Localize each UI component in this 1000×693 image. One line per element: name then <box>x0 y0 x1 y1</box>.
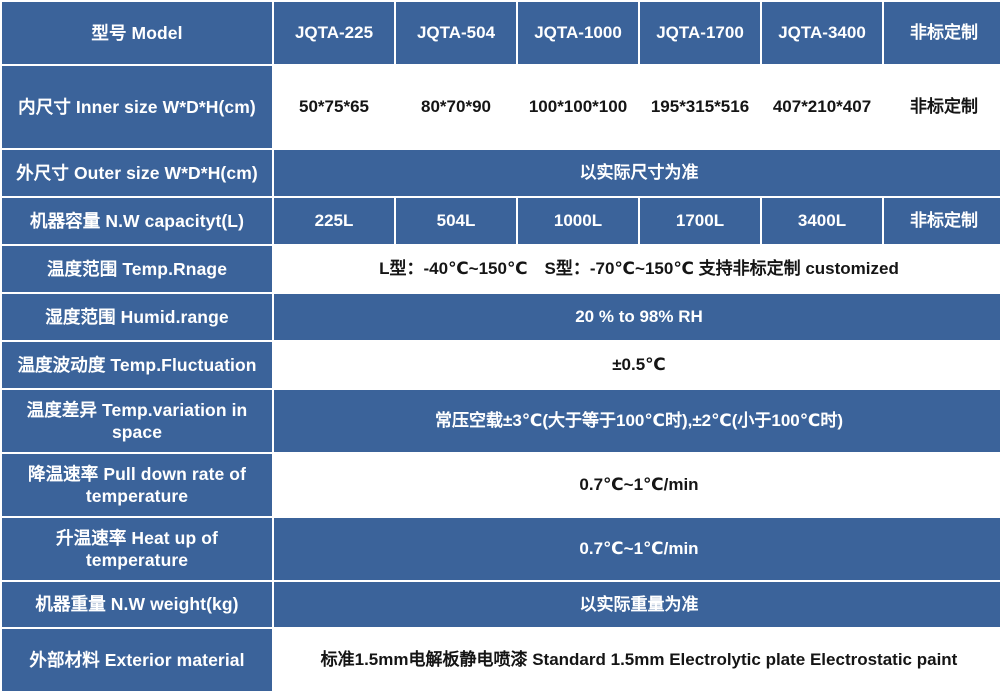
cell-temp-fluctuation-value: ±0.5℃ <box>274 342 1000 388</box>
row-label-heat-up-rate: 升温速率 Heat up of temperature <box>2 518 272 580</box>
row-label-outer-size: 外尺寸 Outer size W*D*H(cm) <box>2 150 272 196</box>
cell-inner-size-5: 非标定制 <box>884 66 1000 148</box>
cell-humidity-value: 20 % to 98% RH <box>274 294 1000 340</box>
header-model-5: 非标定制 <box>884 2 1000 64</box>
row-label-humidity: 湿度范围 Humid.range <box>2 294 272 340</box>
row-label-temp-fluctuation: 温度波动度 Temp.Fluctuation <box>2 342 272 388</box>
table-row-capacity: 机器容量 N.W capacityt(L) 225L 504L 1000L 17… <box>2 198 1000 244</box>
table-row-exterior-material: 外部材料 Exterior material 标准1.5mm电解板静电喷漆 St… <box>2 629 1000 691</box>
cell-exterior-material-value: 标准1.5mm电解板静电喷漆 Standard 1.5mm Electrolyt… <box>274 629 1000 691</box>
cell-capacity-5: 非标定制 <box>884 198 1000 244</box>
cell-capacity-4: 3400L <box>762 198 882 244</box>
table-row-temp-range: 温度范围 Temp.Rnage L型：-40℃~150℃ S型：-70℃~150… <box>2 246 1000 292</box>
row-label-inner-size: 内尺寸 Inner size W*D*H(cm) <box>2 66 272 148</box>
header-model-3: JQTA-1700 <box>640 2 760 64</box>
table-row-pull-down-rate: 降温速率 Pull down rate of temperature 0.7℃~… <box>2 454 1000 516</box>
cell-capacity-2: 1000L <box>518 198 638 244</box>
table-row-temp-variation: 温度差异 Temp.variation in space 常压空载±3℃(大于等… <box>2 390 1000 452</box>
header-model-2: JQTA-1000 <box>518 2 638 64</box>
row-label-temp-variation: 温度差异 Temp.variation in space <box>2 390 272 452</box>
cell-inner-size-2: 100*100*100 <box>518 66 638 148</box>
cell-inner-size-1: 80*70*90 <box>396 66 516 148</box>
table-row-weight: 机器重量 N.W weight(kg) 以实际重量为准 <box>2 582 1000 627</box>
header-model-1: JQTA-504 <box>396 2 516 64</box>
cell-capacity-3: 1700L <box>640 198 760 244</box>
cell-inner-size-4: 407*210*407 <box>762 66 882 148</box>
cell-inner-size-0: 50*75*65 <box>274 66 394 148</box>
row-label-exterior-material: 外部材料 Exterior material <box>2 629 272 691</box>
cell-weight-value: 以实际重量为准 <box>274 582 1000 627</box>
table-body: 型号 Model JQTA-225 JQTA-504 JQTA-1000 JQT… <box>2 2 1000 691</box>
cell-temp-variation-value: 常压空载±3℃(大于等于100℃时),±2℃(小于100℃时) <box>274 390 1000 452</box>
table-row-outer-size: 外尺寸 Outer size W*D*H(cm) 以实际尺寸为准 <box>2 150 1000 196</box>
table-row-heat-up-rate: 升温速率 Heat up of temperature 0.7℃~1℃/min <box>2 518 1000 580</box>
cell-capacity-0: 225L <box>274 198 394 244</box>
row-label-capacity: 机器容量 N.W capacityt(L) <box>2 198 272 244</box>
cell-inner-size-3: 195*315*516 <box>640 66 760 148</box>
cell-heat-up-rate-value: 0.7℃~1℃/min <box>274 518 1000 580</box>
row-label-weight: 机器重量 N.W weight(kg) <box>2 582 272 627</box>
header-model-4: JQTA-3400 <box>762 2 882 64</box>
table-header-row: 型号 Model JQTA-225 JQTA-504 JQTA-1000 JQT… <box>2 2 1000 64</box>
row-label-pull-down-rate: 降温速率 Pull down rate of temperature <box>2 454 272 516</box>
cell-capacity-1: 504L <box>396 198 516 244</box>
header-model-0: JQTA-225 <box>274 2 394 64</box>
cell-temp-range-value: L型：-40℃~150℃ S型：-70℃~150℃ 支持非标定制 customi… <box>274 246 1000 292</box>
specification-table: 型号 Model JQTA-225 JQTA-504 JQTA-1000 JQT… <box>0 0 1000 693</box>
row-label-temp-range: 温度范围 Temp.Rnage <box>2 246 272 292</box>
table-row-inner-size: 内尺寸 Inner size W*D*H(cm) 50*75*65 80*70*… <box>2 66 1000 148</box>
table-row-humidity: 湿度范围 Humid.range 20 % to 98% RH <box>2 294 1000 340</box>
table-row-temp-fluctuation: 温度波动度 Temp.Fluctuation ±0.5℃ <box>2 342 1000 388</box>
cell-pull-down-rate-value: 0.7℃~1℃/min <box>274 454 1000 516</box>
cell-outer-size-value: 以实际尺寸为准 <box>274 150 1000 196</box>
header-label-model: 型号 Model <box>2 2 272 64</box>
